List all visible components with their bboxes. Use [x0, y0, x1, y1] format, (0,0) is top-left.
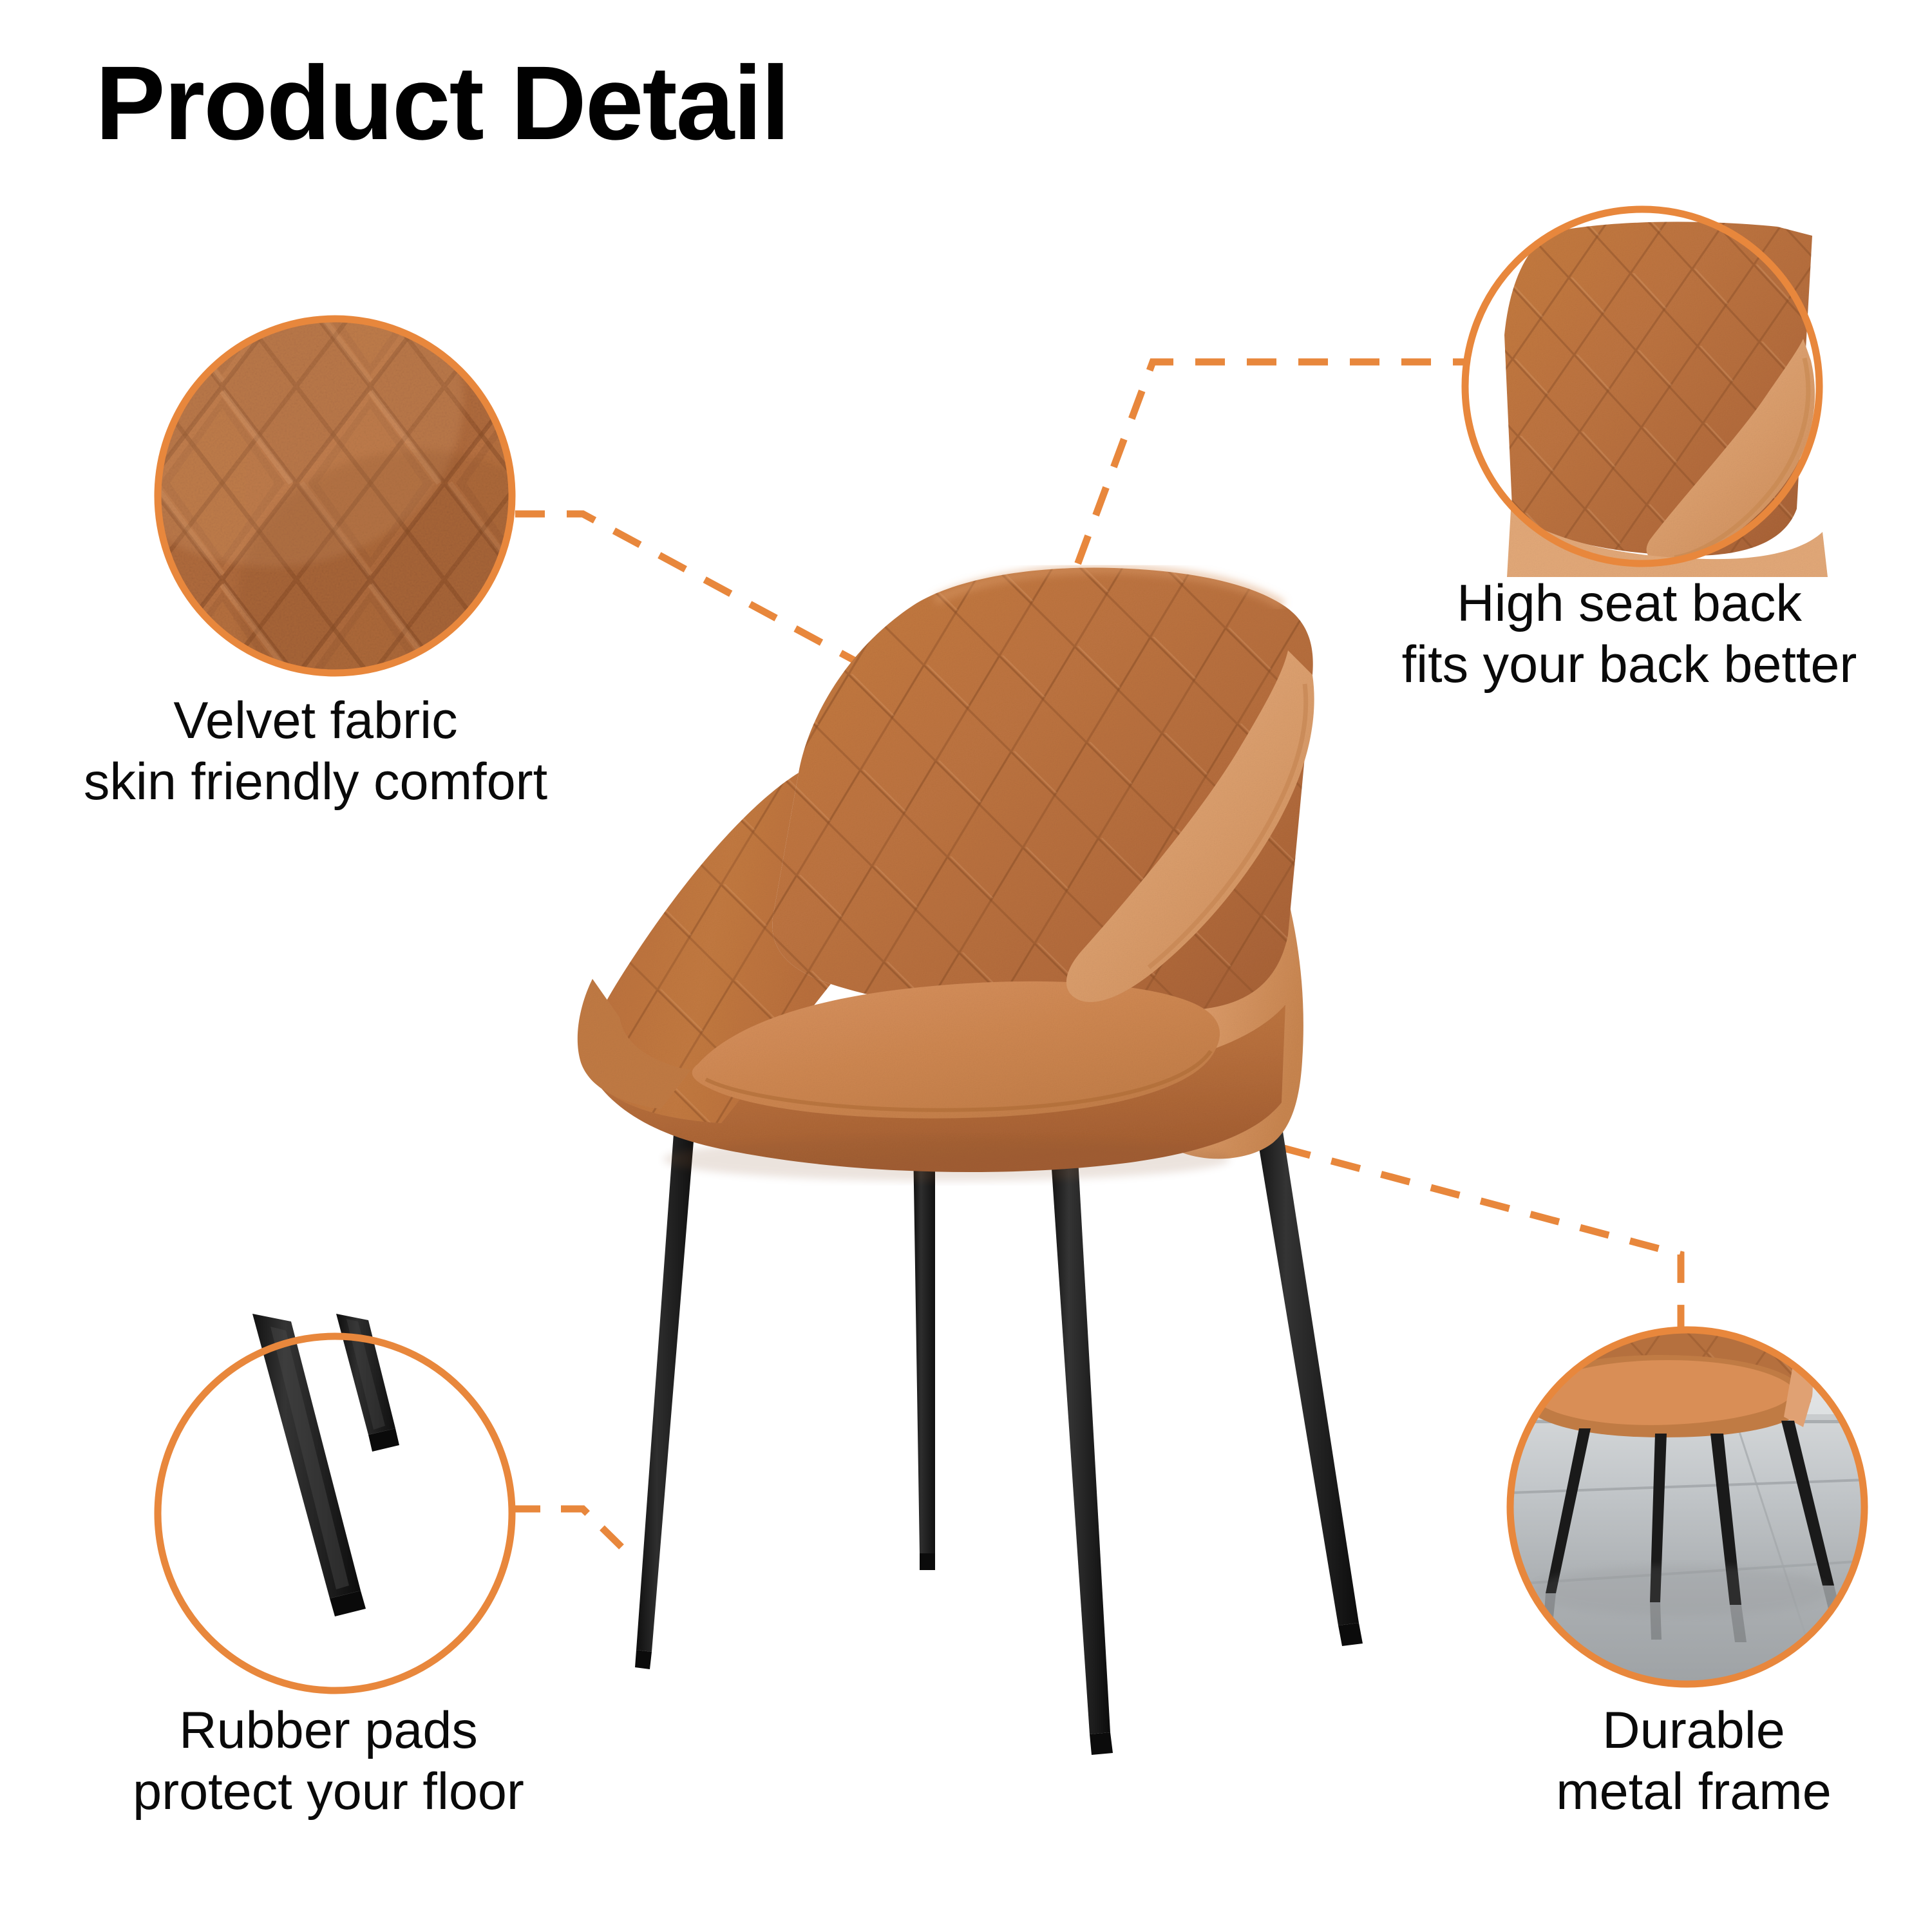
chair-leg-front-right: [1255, 1121, 1359, 1625]
chair-leg-front-left: [1051, 1159, 1110, 1734]
callout-caption-metal: Durable metal frame: [1468, 1700, 1919, 1823]
callout-high-seat-back: [1465, 193, 1932, 618]
caption-line-2: fits your back better: [1327, 634, 1932, 696]
callout-caption-seatback: High seat back fits your back better: [1327, 573, 1932, 696]
infographic-canvas: Product Detail Velvet fabric skin friend…: [0, 0, 1932, 1932]
callout-caption-velvet: Velvet fabric skin friendly comfort: [13, 690, 618, 813]
connector-velvet: [515, 514, 902, 686]
main-chair-photo: [578, 568, 1363, 1755]
chair-leg-rear-left: [636, 1133, 694, 1652]
caption-line-1: Durable: [1468, 1700, 1919, 1761]
chair-legs: [635, 1121, 1363, 1755]
callout-rubber-image: [252, 1314, 399, 1616]
callout-seatback-image: [1504, 193, 1932, 618]
caption-line-2: protect your floor: [26, 1761, 631, 1823]
caption-line-1: Velvet fabric: [13, 690, 618, 752]
caption-line-2: metal frame: [1468, 1761, 1919, 1823]
rubber-pad-front-left: [1090, 1732, 1113, 1755]
callout-rubber-pads: [158, 1314, 512, 1690]
callout-caption-rubber: Rubber pads protect your floor: [26, 1700, 631, 1823]
callout-metal-frame: [1510, 1321, 1864, 1687]
rubber-pad-rear-right: [920, 1553, 935, 1570]
caption-line-2: skin friendly comfort: [13, 752, 618, 813]
connector-rubber: [512, 1509, 621, 1547]
rubber-pad-front-right: [1338, 1623, 1363, 1646]
callout-velvet-fabric: [77, 232, 599, 747]
chair-contact-shadow: [663, 1137, 1230, 1181]
product-detail-illustration: [0, 0, 1932, 1932]
rubber-pad-rear-left: [635, 1650, 652, 1669]
caption-line-1: Rubber pads: [26, 1700, 631, 1761]
caption-line-1: High seat back: [1327, 573, 1932, 634]
chair-leg-rear-right: [913, 1145, 935, 1553]
connector-metal: [1282, 1148, 1681, 1328]
page-title: Product Detail: [95, 50, 789, 155]
